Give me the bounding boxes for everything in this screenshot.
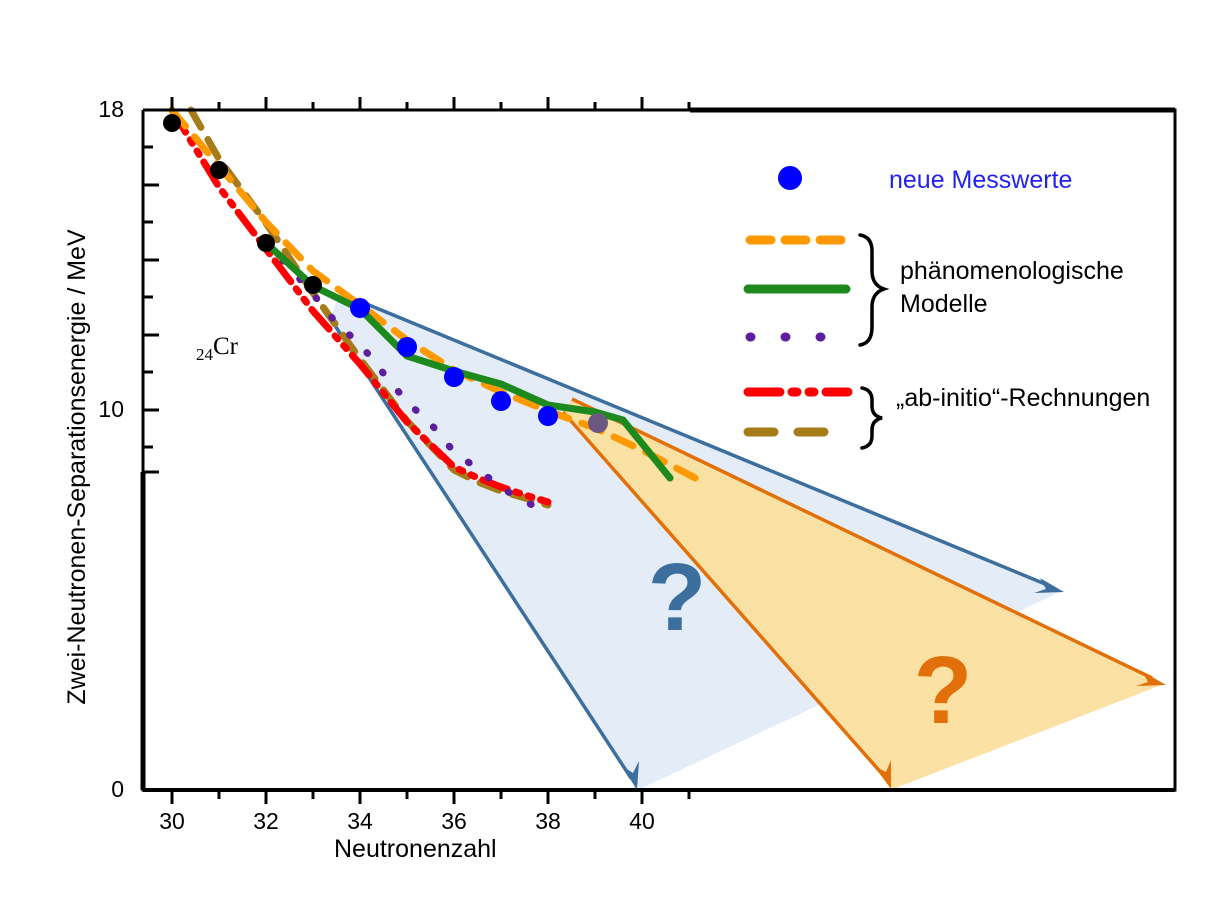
data-point-blue [538, 406, 558, 426]
x-tick-label-38: 38 [518, 808, 578, 835]
nuclide-proton-number: 24 [196, 345, 213, 364]
data-point-black [304, 276, 322, 294]
y-axis-label-wrapper: Zwei-Neutronen-Separationsenergie / MeV [57, 147, 97, 787]
data-point-black [257, 234, 275, 252]
chart-svg: ? ? [0, 0, 1209, 907]
x-axis-ticks [172, 790, 689, 804]
x-tick-label-36: 36 [424, 808, 484, 835]
y-axis-label: Zwei-Neutronen-Separationsenergie / MeV [63, 229, 91, 704]
chart-canvas: ? ? Zwei-Neutronen-Separationsenergie / … [0, 0, 1209, 907]
question-mark-orange: ? [914, 637, 973, 744]
legend-label-pheno: phänomenologische Modelle [900, 255, 1124, 321]
x-tick-label-34: 34 [330, 808, 390, 835]
legend-marker-measured-icon [778, 166, 802, 190]
data-point-blue [444, 367, 464, 387]
question-mark-blue: ? [648, 544, 707, 651]
legend-brace-abinitio-icon [862, 388, 882, 448]
x-axis-label: Neutronenzahl [334, 835, 497, 864]
x-tick-label-30: 30 [142, 808, 202, 835]
nuclide-annotation: 24Cr [196, 333, 238, 365]
x-tick-label-40: 40 [612, 808, 672, 835]
legend-label-measured: neue Messwerte [889, 164, 1072, 197]
legend-brace-pheno-icon [860, 235, 884, 345]
data-point-blue-faded [588, 413, 608, 433]
legend-glyphs [748, 166, 884, 448]
y-tick-label-0: 0 [78, 776, 124, 803]
data-point-black [210, 161, 228, 179]
data-point-black [163, 114, 181, 132]
data-point-blue [350, 298, 370, 318]
legend-label-abinitio: „ab-initio“-Rechnungen [896, 382, 1150, 415]
x-axis-top-ticks [172, 97, 689, 110]
y-tick-label-18: 18 [78, 96, 124, 123]
data-point-blue [491, 391, 511, 411]
nuclide-symbol: Cr [213, 333, 238, 360]
y-tick-label-10: 10 [78, 396, 124, 423]
data-point-blue [397, 337, 417, 357]
x-tick-label-32: 32 [236, 808, 296, 835]
